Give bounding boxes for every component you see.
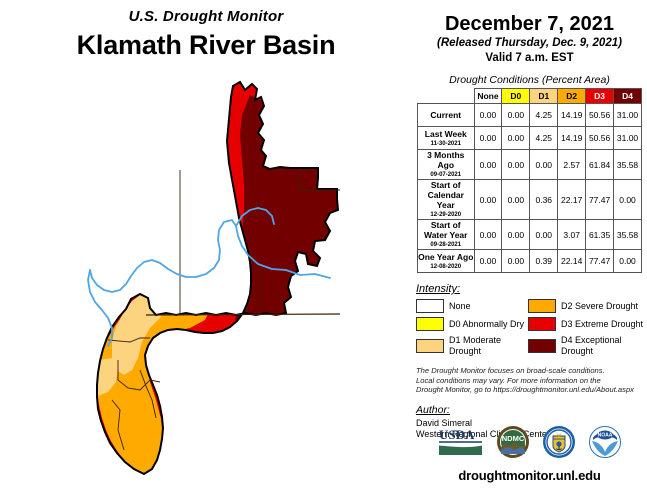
valid-time: Valid 7 a.m. EST	[412, 51, 647, 66]
site-url[interactable]: droughtmonitor.unl.edu	[412, 468, 647, 483]
table-row: Start of Calendar Year 12-29-2020 0.00 0…	[418, 180, 642, 220]
cell-none: 0.00	[474, 220, 502, 250]
legend-label-d1: D1 Moderate Drought	[449, 335, 528, 357]
cell-none: 0.00	[474, 180, 502, 220]
date-block: December 7, 2021 (Released Thursday, Dec…	[412, 12, 647, 66]
cell-d0: 0.00	[502, 127, 530, 150]
cell-d2: 22.17	[558, 180, 586, 220]
column-header-d1: D1	[530, 89, 558, 104]
cell-d1: 0.00	[530, 150, 558, 180]
usdm-eyebrow: U.S. Drought Monitor	[0, 8, 412, 26]
legend-item-d2: D2 Severe Drought	[528, 299, 647, 313]
row-label-one-year-ago: One Year Ago 12-08-2020	[418, 250, 475, 273]
row-label-text: Current	[430, 110, 461, 120]
legend-item-d3: D3 Extreme Drought	[528, 317, 647, 331]
row-label-text: Last Week	[425, 129, 467, 139]
cell-d2: 2.57	[558, 150, 586, 180]
row-label-date: 12-08-2020	[418, 263, 474, 271]
svg-text:NDMC: NDMC	[501, 434, 524, 443]
map-svg	[0, 70, 412, 500]
swatch-d2-icon	[528, 299, 556, 313]
cell-d1: 4.25	[530, 104, 558, 127]
footnote: The Drought Monitor focuses on broad-sca…	[416, 366, 647, 395]
table-header-row: None D0 D1 D2 D3 D4	[418, 89, 642, 104]
cell-d4: 0.00	[614, 180, 642, 220]
table-row: Last Week 11-30-2021 0.00 0.00 4.25 14.1…	[418, 127, 642, 150]
legend-label-d3: D3 Extreme Drought	[561, 319, 643, 330]
row-label-date: 09-28-2021	[418, 241, 474, 249]
header-corner-blank	[418, 89, 475, 104]
cell-d4: 0.00	[614, 250, 642, 273]
cell-d2: 14.19	[558, 104, 586, 127]
footnote-line-3: Drought Monitor, go to https://droughtmo…	[416, 385, 647, 395]
table-row: Start of Water Year 09-28-2021 0.00 0.00…	[418, 220, 642, 250]
row-label-text: Start of Water Year	[424, 220, 467, 240]
noaa-logo-icon: NOAA	[588, 425, 622, 459]
column-header-d3: D3	[586, 89, 614, 104]
footnote-line-1: The Drought Monitor focuses on broad-sca…	[416, 366, 647, 376]
swatch-d1-icon	[416, 339, 444, 353]
cell-d4: 31.00	[614, 127, 642, 150]
map-panel: U.S. Drought Monitor Klamath River Basin	[0, 0, 412, 500]
author-heading: Author:	[416, 404, 647, 416]
usda-logo-icon: USDA	[438, 427, 484, 457]
cell-d3: 77.47	[586, 250, 614, 273]
legend-item-d4: D4 Exceptional Drought	[528, 335, 647, 357]
cell-none: 0.00	[474, 250, 502, 273]
svg-text:NOAA: NOAA	[597, 433, 612, 439]
table-row: 3 Months Ago 09-07-2021 0.00 0.00 0.00 2…	[418, 150, 642, 180]
footnote-line-2: Local conditions may vary. For more info…	[416, 376, 647, 386]
row-label-text: 3 Months Ago	[427, 150, 464, 170]
swatch-d4-icon	[528, 339, 556, 353]
cell-d1: 0.36	[530, 180, 558, 220]
basin-rendered	[0, 70, 412, 500]
cell-none: 0.00	[474, 127, 502, 150]
legend-item-none: None	[416, 299, 528, 313]
row-label-date: 11-30-2021	[418, 140, 474, 148]
column-header-d0: D0	[502, 89, 530, 104]
page-title: Klamath River Basin	[0, 28, 412, 62]
ndmc-logo-icon: NDMC	[496, 425, 530, 459]
info-panel: December 7, 2021 (Released Thursday, Dec…	[412, 0, 647, 500]
cell-d1: 0.39	[530, 250, 558, 273]
row-label-start-of-water-year: Start of Water Year 09-28-2021	[418, 220, 475, 250]
row-label-3-months-ago: 3 Months Ago 09-07-2021	[418, 150, 475, 180]
row-label-date: 12-29-2020	[418, 211, 474, 219]
table-row: Current 0.00 0.00 4.25 14.19 50.56 31.00	[418, 104, 642, 127]
legend-label-d2: D2 Severe Drought	[561, 301, 638, 312]
legend-item-d1: D1 Moderate Drought	[416, 335, 528, 357]
legend-item-d0: D0 Abnormally Dry	[416, 317, 528, 331]
release-date: (Released Thursday, Dec. 9, 2021)	[412, 36, 647, 51]
usda-seal-logo-icon	[542, 425, 576, 459]
cell-d3: 77.47	[586, 180, 614, 220]
cell-d2: 22.14	[558, 250, 586, 273]
cell-d0: 0.00	[502, 104, 530, 127]
row-label-current: Current	[418, 104, 475, 127]
row-label-last-week: Last Week 11-30-2021	[418, 127, 475, 150]
column-header-d4: D4	[614, 89, 642, 104]
cell-d4: 35.58	[614, 220, 642, 250]
row-label-date: 09-07-2021	[418, 171, 474, 179]
table-caption: Drought Conditions (Percent Area)	[412, 74, 647, 86]
svg-text:USDA: USDA	[439, 427, 475, 442]
cell-d0: 0.00	[502, 150, 530, 180]
intensity-heading: Intensity:	[416, 283, 647, 295]
cell-d0: 0.00	[502, 220, 530, 250]
row-label-text: One Year Ago	[418, 252, 473, 262]
map-date: December 7, 2021	[412, 12, 647, 36]
cell-d3: 50.56	[586, 104, 614, 127]
table-row: One Year Ago 12-08-2020 0.00 0.00 0.39 2…	[418, 250, 642, 273]
row-label-text: Start of Calendar Year	[428, 180, 464, 210]
cell-d3: 50.56	[586, 127, 614, 150]
title-block: U.S. Drought Monitor Klamath River Basin	[0, 8, 412, 62]
cell-d2: 3.07	[558, 220, 586, 250]
cell-d4: 35.58	[614, 150, 642, 180]
row-label-start-of-calendar-year: Start of Calendar Year 12-29-2020	[418, 180, 475, 220]
cell-d3: 61.35	[586, 220, 614, 250]
intensity-legend: None D2 Severe Drought D0 Abnormally Dry…	[416, 299, 647, 357]
map-layers	[0, 70, 412, 500]
legend-label-d0: D0 Abnormally Dry	[449, 319, 524, 330]
cell-none: 0.00	[474, 150, 502, 180]
cell-d4: 31.00	[614, 104, 642, 127]
swatch-none-icon	[416, 299, 444, 313]
drought-conditions-table: None D0 D1 D2 D3 D4 Current 0.00 0.00 4.…	[417, 88, 642, 273]
drought-map	[0, 70, 412, 500]
cell-none: 0.00	[474, 104, 502, 127]
cell-d0: 0.00	[502, 180, 530, 220]
column-header-none: None	[474, 89, 502, 104]
swatch-d0-icon	[416, 317, 444, 331]
column-header-d2: D2	[558, 89, 586, 104]
swatch-d3-icon	[528, 317, 556, 331]
legend-label-d4: D4 Exceptional Drought	[561, 335, 647, 357]
cell-d0: 0.00	[502, 250, 530, 273]
logo-row: USDA NDMC	[412, 418, 647, 466]
cell-d1: 0.00	[530, 220, 558, 250]
legend-label-none: None	[449, 301, 471, 312]
cell-d2: 14.19	[558, 127, 586, 150]
cell-d1: 4.25	[530, 127, 558, 150]
cell-d3: 61.84	[586, 150, 614, 180]
